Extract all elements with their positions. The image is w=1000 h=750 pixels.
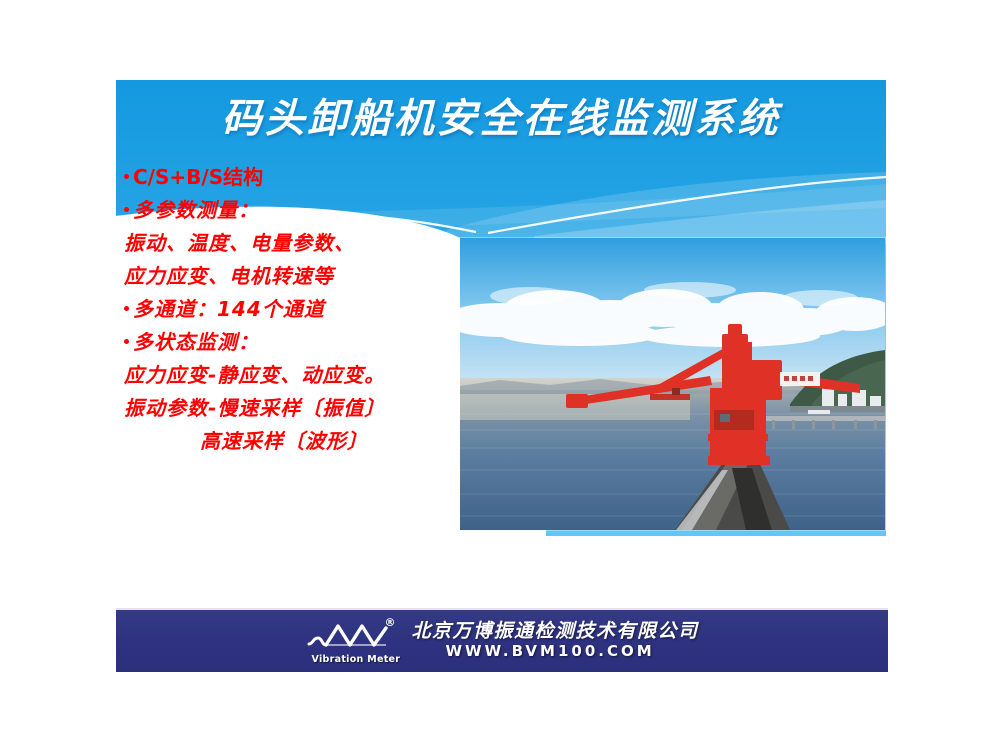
list-item-label: 振动参数-慢速采样〔振值〕 bbox=[124, 396, 385, 420]
list-item: 应力应变-静应变、动应变。 bbox=[124, 365, 484, 385]
bullet-list: C/S+B/S结构 多参数测量： 振动、温度、电量参数、 应力应变、电机转速等 … bbox=[124, 167, 484, 464]
bullet-dot-icon bbox=[124, 174, 129, 179]
list-item: 应力应变、电机转速等 bbox=[124, 266, 484, 286]
list-item: 高速采样〔波形〕 bbox=[124, 431, 484, 451]
footer-bar: ® Vibration Meter 北京万博振通检测技术有限公司 WWW.BVM… bbox=[116, 608, 888, 672]
bullet-dot-icon bbox=[124, 207, 129, 212]
company-url[interactable]: WWW.BVM100.COM bbox=[445, 643, 654, 660]
logo-subtitle: Vibration Meter bbox=[311, 654, 400, 665]
vibration-meter-logo-icon: ® Vibration Meter bbox=[305, 618, 401, 664]
page-title: 码头卸船机安全在线监测系统 bbox=[116, 98, 886, 140]
bullet-dot-icon bbox=[124, 339, 129, 344]
list-item-label: 应力应变-静应变、动应变。 bbox=[124, 363, 385, 387]
list-item-label: 多状态监测： bbox=[133, 330, 259, 354]
list-item-label: 振动、温度、电量参数、 bbox=[124, 231, 355, 255]
list-item-label: 多通道：144个通道 bbox=[133, 297, 325, 321]
footer-content: ® Vibration Meter 北京万博振通检测技术有限公司 WWW.BVM… bbox=[116, 610, 888, 672]
registered-trademark-icon: ® bbox=[384, 617, 395, 628]
list-item-label: 多参数测量： bbox=[133, 198, 259, 222]
list-item: 多通道：144个通道 bbox=[124, 299, 484, 319]
list-item: 振动参数-慢速采样〔振值〕 bbox=[124, 398, 484, 418]
photo-artwork bbox=[460, 238, 885, 530]
list-item: 振动、温度、电量参数、 bbox=[124, 233, 484, 253]
slide-canvas: 码头卸船机安全在线监测系统 C/S+B/S结构 多参数测量： 振动、温度、电量参… bbox=[0, 0, 1000, 750]
port-crane-photo bbox=[460, 238, 885, 530]
list-item-label: 应力应变、电机转速等 bbox=[124, 264, 334, 288]
company-name: 北京万博振通检测技术有限公司 bbox=[411, 621, 698, 642]
list-item-label: 高速采样〔波形〕 bbox=[200, 429, 368, 453]
list-item: 多参数测量： bbox=[124, 200, 484, 220]
list-item-label: C/S+B/S结构 bbox=[133, 165, 263, 189]
bullet-dot-icon bbox=[124, 306, 129, 311]
list-item: 多状态监测： bbox=[124, 332, 484, 352]
footer-text-group: 北京万博振通检测技术有限公司 WWW.BVM100.COM bbox=[411, 621, 698, 660]
list-item: C/S+B/S结构 bbox=[124, 167, 484, 187]
